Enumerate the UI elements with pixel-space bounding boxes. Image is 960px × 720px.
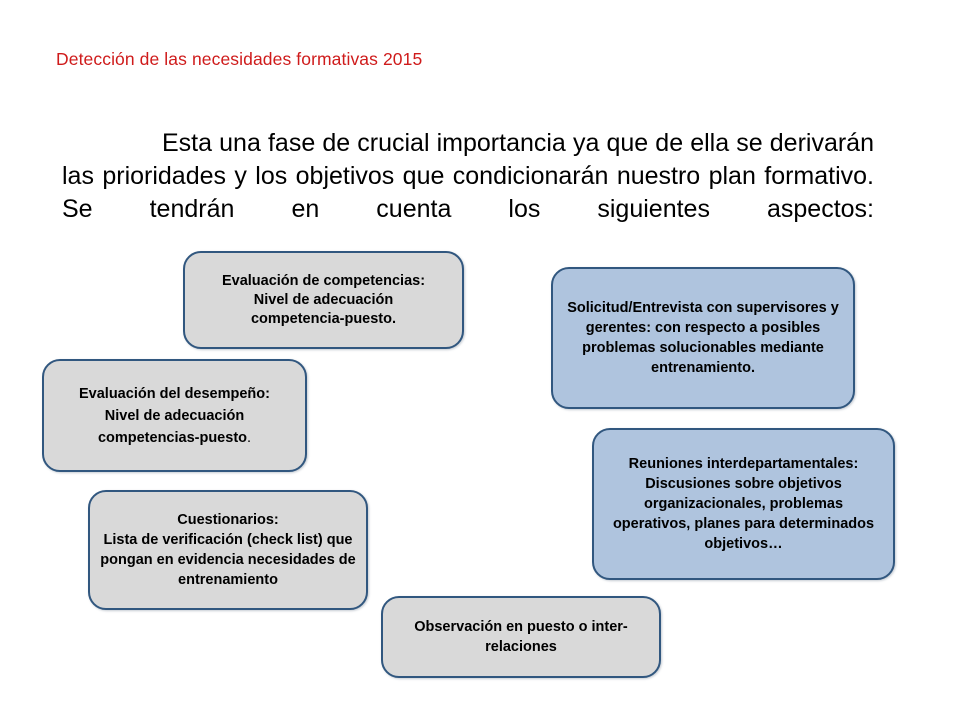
intro-paragraph: Esta una fase de crucial importancia ya … (62, 127, 874, 259)
node-cuestionarios-label: Cuestionarios: Lista de verificación (ch… (100, 510, 356, 590)
node-evaluacion-competencias[interactable]: Evaluación de competencias: Nivel de ade… (183, 251, 464, 349)
node-solicitud-entrevista[interactable]: Solicitud/Entrevista con supervisores y … (551, 267, 855, 409)
node-evaluacion-desempeno-body: Evaluación del desempeño: Nivel de adecu… (79, 386, 270, 446)
node-observacion[interactable]: Observación en puesto o inter-relaciones (381, 596, 661, 678)
node-solicitud-entrevista-label: Solicitud/Entrevista con supervisores y … (563, 298, 843, 378)
slide-canvas: Detección de las necesidades formativas … (0, 0, 960, 720)
node-evaluacion-desempeno-period: . (247, 430, 251, 446)
page-title: Detección de las necesidades formativas … (56, 48, 876, 70)
node-reuniones-interdepartamentales[interactable]: Reuniones interdepartamentales: Discusio… (592, 428, 895, 580)
node-reuniones-interdepartamentales-label: Reuniones interdepartamentales: Discusio… (604, 454, 883, 554)
node-evaluacion-desempeno[interactable]: Evaluación del desempeño: Nivel de adecu… (42, 359, 307, 472)
node-evaluacion-competencias-label: Evaluación de competencias: Nivel de ade… (195, 272, 452, 329)
node-cuestionarios[interactable]: Cuestionarios: Lista de verificación (ch… (88, 490, 368, 610)
node-observacion-label: Observación en puesto o inter-relaciones (393, 617, 649, 657)
node-evaluacion-desempeno-label: Evaluación del desempeño: Nivel de adecu… (54, 383, 295, 449)
